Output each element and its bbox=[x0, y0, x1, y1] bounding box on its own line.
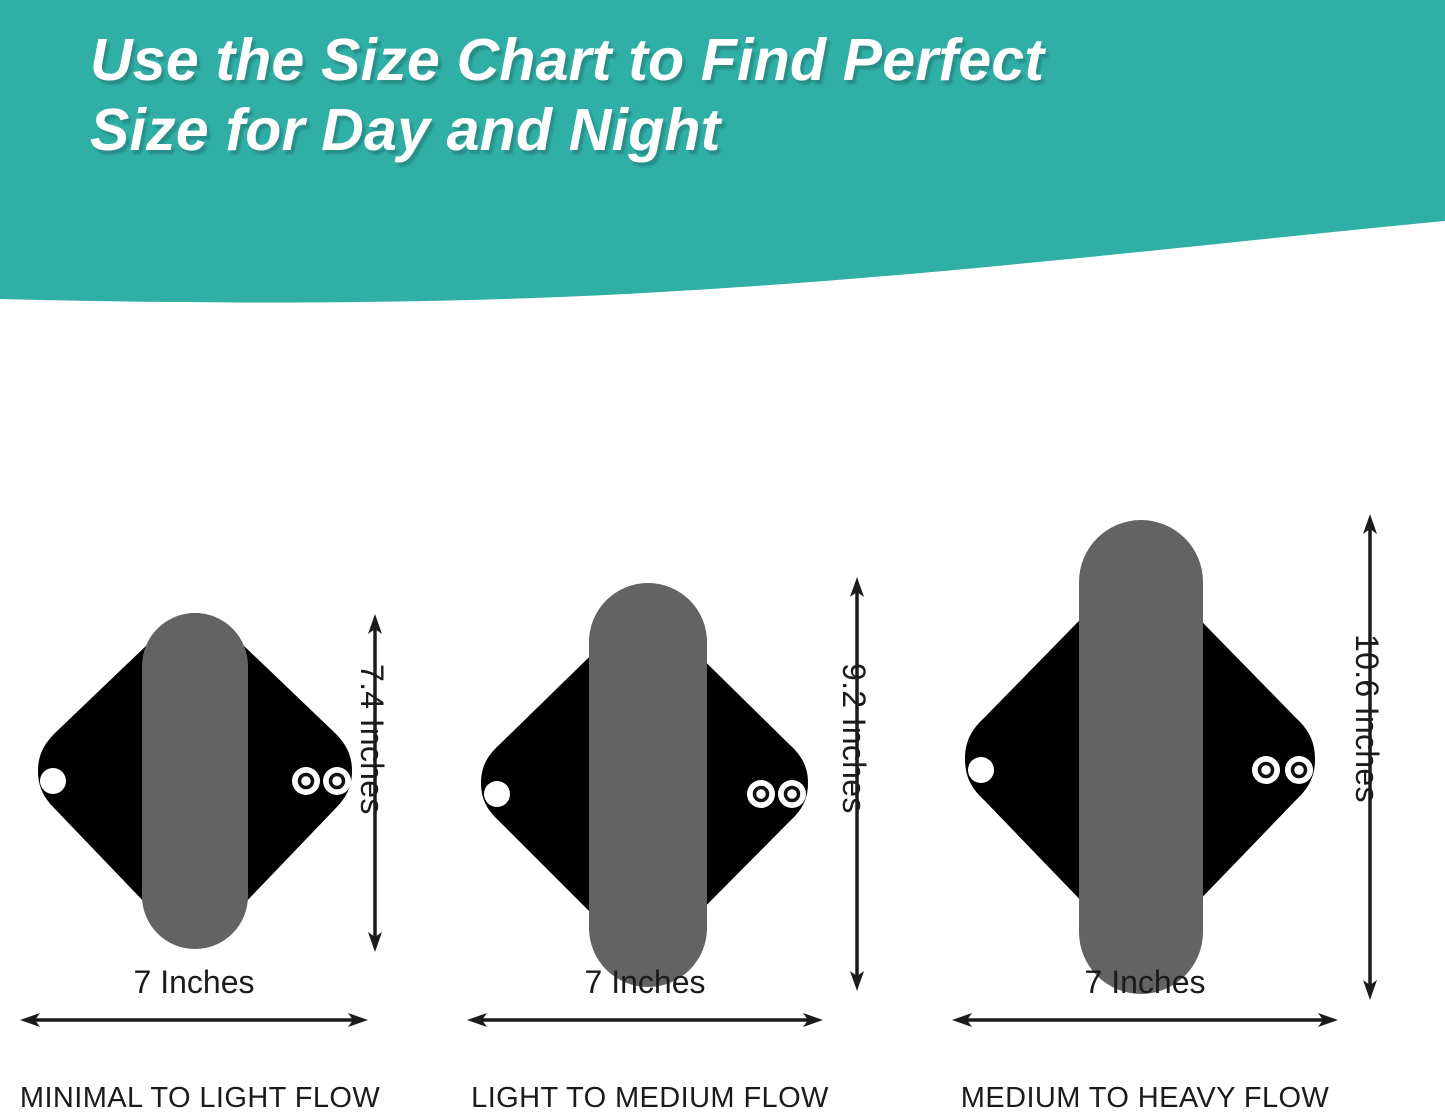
length-label-1: 7.4 Inches bbox=[353, 664, 390, 815]
pad-size-group-2: 9.2 Inches 7 Inches LIGHT TO MEDIUM FLOW bbox=[460, 0, 930, 1116]
width-label-3: 7 Inches bbox=[950, 964, 1340, 1001]
flow-caption-1: MINIMAL TO LIGHT FLOW bbox=[0, 1082, 400, 1115]
width-label-1: 7 Inches bbox=[18, 964, 370, 1001]
pad-core-1 bbox=[142, 613, 248, 949]
pad-size-group-1: 7.4 Inches 7 Inches MINIMAL TO LIGHT FLO… bbox=[0, 0, 460, 1116]
length-label-3: 10.6 Inches bbox=[1348, 634, 1385, 803]
width-dimension-arrow-3: 7 Inches bbox=[950, 1006, 1340, 1034]
size-chart-infographic: Use the Size Chart to Find Perfect Size … bbox=[0, 0, 1445, 1116]
snap-hole-left-1 bbox=[40, 768, 66, 794]
snap-hole-left-2 bbox=[484, 781, 510, 807]
pad-illustration-1 bbox=[30, 605, 360, 955]
pad-core-2 bbox=[589, 583, 707, 987]
pad-core-3 bbox=[1079, 520, 1203, 994]
length-label-2: 9.2 Inches bbox=[835, 663, 872, 814]
width-dimension-arrow-2: 7 Inches bbox=[465, 1006, 825, 1034]
length-dimension-arrow-1: 7.4 Inches bbox=[360, 612, 390, 954]
snap-hole-left-3 bbox=[968, 757, 994, 783]
flow-caption-3: MEDIUM TO HEAVY FLOW bbox=[935, 1082, 1355, 1115]
flow-caption-2: LIGHT TO MEDIUM FLOW bbox=[450, 1082, 850, 1115]
length-dimension-arrow-2: 9.2 Inches bbox=[842, 575, 872, 993]
width-dimension-arrow-1: 7 Inches bbox=[18, 1006, 370, 1034]
pad-illustration-2 bbox=[472, 575, 817, 993]
width-label-2: 7 Inches bbox=[465, 964, 825, 1001]
pad-illustration-3 bbox=[955, 512, 1325, 1002]
pad-size-group-3: 10.6 Inches 7 Inches MEDIUM TO HEAVY FLO… bbox=[930, 0, 1445, 1116]
length-dimension-arrow-3: 10.6 Inches bbox=[1355, 512, 1385, 1002]
